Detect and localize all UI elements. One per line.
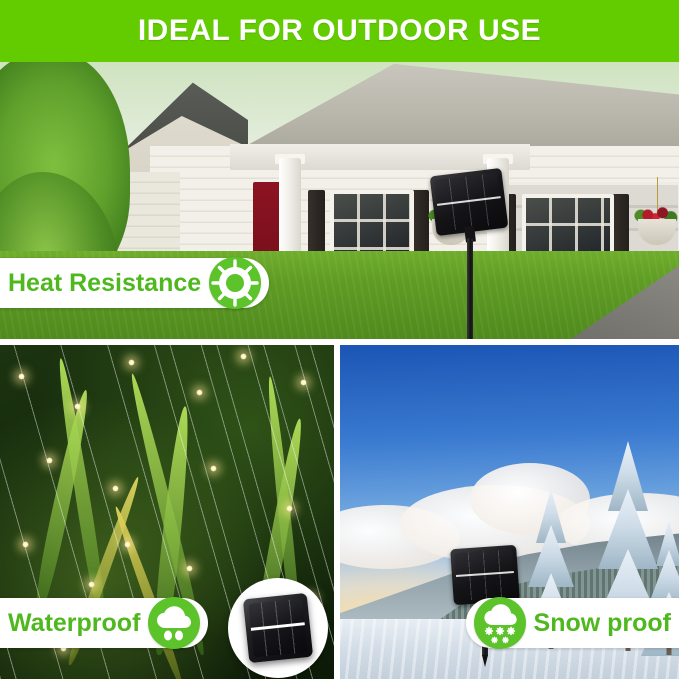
feature-label-snow-proof: Snow proof — [466, 598, 679, 648]
snow-cloud-icon — [474, 597, 526, 649]
header-banner: IDEAL FOR OUTDOOR USE — [0, 0, 679, 62]
feature-label-text: Snow proof — [534, 609, 671, 638]
feature-label-waterproof: Waterproof — [0, 598, 208, 648]
feature-label-heat-resistance: Heat Resistance — [0, 258, 269, 308]
solar-light-on-stake — [425, 172, 515, 339]
feature-label-text: Heat Resistance — [8, 269, 201, 298]
ground-stake — [467, 238, 473, 339]
sun-icon — [209, 257, 261, 309]
feature-label-text: Waterproof — [8, 609, 140, 638]
solar-panel-closeup — [243, 593, 313, 663]
page-title: IDEAL FOR OUTDOOR USE — [138, 14, 541, 48]
solar-panel-inset — [228, 578, 328, 678]
product-feature-image: IDEAL FOR OUTDOOR USE — [0, 0, 679, 679]
rain-cloud-icon — [148, 597, 200, 649]
